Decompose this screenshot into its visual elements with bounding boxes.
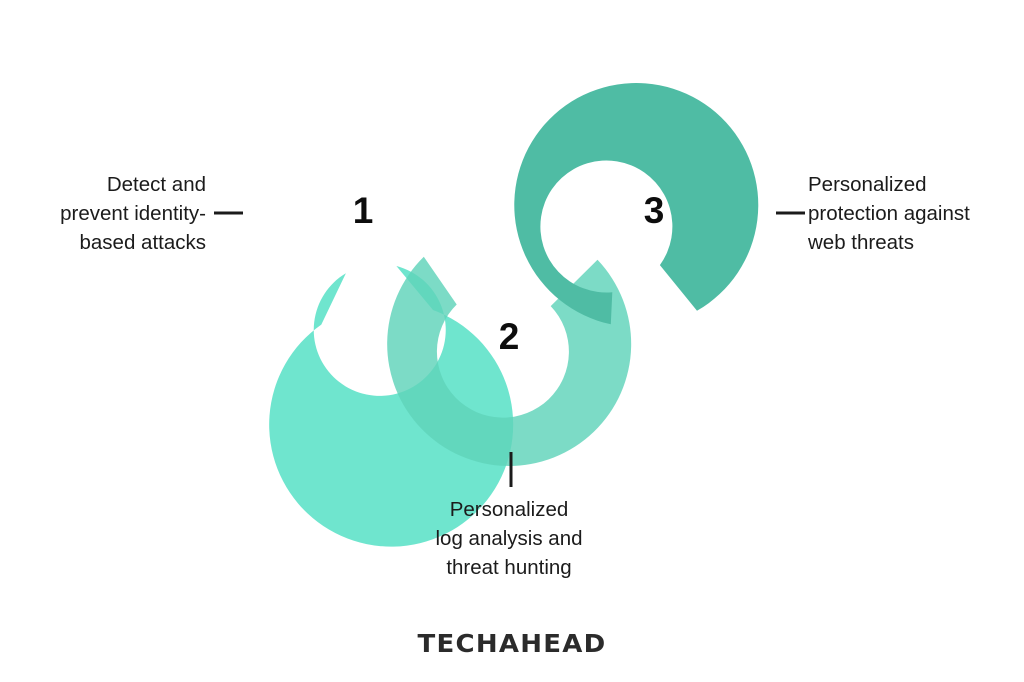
- ring-number-2: 2: [469, 318, 549, 355]
- callout-label-right: Personalized protection against web thre…: [808, 170, 1018, 257]
- infographic-canvas: 1 2 3 Detect and prevent identity- based…: [0, 0, 1024, 682]
- ring-number-1: 1: [323, 192, 403, 229]
- callout-label-left: Detect and prevent identity- based attac…: [14, 170, 206, 257]
- callout-label-bottom: Personalized log analysis and threat hun…: [389, 495, 629, 582]
- ring-number-3: 3: [614, 192, 694, 229]
- techahead-logo: TECHAHEAD: [0, 629, 1024, 658]
